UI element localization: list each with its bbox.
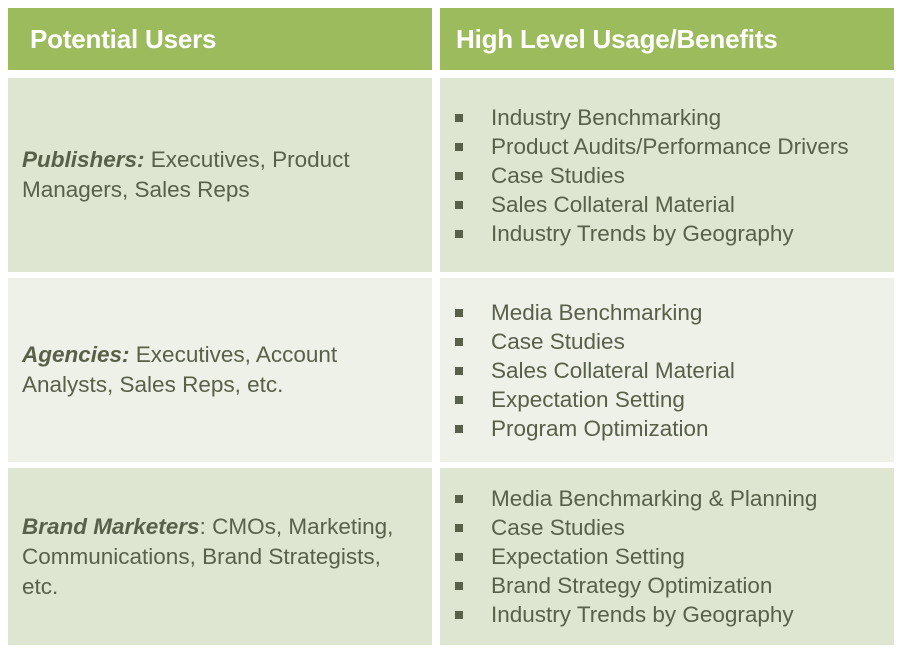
benefit-label: Media Benchmarking: [491, 298, 884, 327]
benefit-label: Industry Benchmarking: [491, 103, 884, 132]
square-bullet-icon: [455, 201, 463, 209]
list-item: Sales Collateral Material: [448, 190, 884, 219]
persona-lead-agencies: Agencies:: [22, 342, 130, 367]
square-bullet-icon: [455, 367, 463, 375]
list-item: Industry Trends by Geography: [448, 600, 884, 629]
square-bullet-icon: [455, 425, 463, 433]
square-bullet-icon: [455, 495, 463, 503]
table-row: Publishers: Executives, Product Managers…: [8, 78, 894, 272]
list-item: Industry Benchmarking: [448, 103, 884, 132]
persona-description: Brand Marketers: CMOs, Marketing, Commun…: [22, 512, 416, 602]
row-column-divider: [432, 278, 440, 462]
persona-description: Publishers: Executives, Product Managers…: [22, 145, 416, 205]
list-item: Media Benchmarking & Planning: [448, 484, 884, 513]
row-column-divider: [432, 78, 440, 272]
benefit-label: Product Audits/Performance Drivers: [491, 132, 884, 161]
benefits-list: Industry Benchmarking Product Audits/Per…: [448, 103, 884, 248]
list-item: Case Studies: [448, 327, 884, 356]
square-bullet-icon: [455, 230, 463, 238]
column-header-high-level-usage-benefits: High Level Usage/Benefits: [440, 8, 894, 70]
list-item: Sales Collateral Material: [448, 356, 884, 385]
column-header-potential-users: Potential Users: [8, 8, 432, 70]
benefit-label: Expectation Setting: [491, 542, 884, 571]
square-bullet-icon: [455, 582, 463, 590]
square-bullet-icon: [455, 611, 463, 619]
benefit-label: Program Optimization: [491, 414, 884, 443]
potential-users-benefits-table: Potential Users High Level Usage/Benefit…: [8, 8, 894, 645]
header-column-divider: [432, 8, 440, 70]
square-bullet-icon: [455, 114, 463, 122]
benefit-label: Industry Trends by Geography: [491, 219, 884, 248]
list-item: Case Studies: [448, 161, 884, 190]
square-bullet-icon: [455, 524, 463, 532]
persona-description: Agencies: Executives, Account Analysts, …: [22, 340, 416, 400]
square-bullet-icon: [455, 143, 463, 151]
benefits-list: Media Benchmarking Case Studies Sales Co…: [448, 298, 884, 443]
persona-lead-brand-marketers: Brand Marketers: [22, 514, 200, 539]
benefit-label: Industry Trends by Geography: [491, 600, 884, 629]
cell-benefits: Media Benchmarking Case Studies Sales Co…: [440, 278, 894, 462]
square-bullet-icon: [455, 396, 463, 404]
list-item: Expectation Setting: [448, 542, 884, 571]
persona-lead-publishers: Publishers:: [22, 147, 145, 172]
cell-potential-users: Brand Marketers: CMOs, Marketing, Commun…: [8, 468, 432, 645]
row-column-divider: [432, 468, 440, 645]
benefit-label: Sales Collateral Material: [491, 190, 884, 219]
benefit-label: Case Studies: [491, 161, 884, 190]
table-row: Agencies: Executives, Account Analysts, …: [8, 278, 894, 462]
square-bullet-icon: [455, 338, 463, 346]
benefit-label: Sales Collateral Material: [491, 356, 884, 385]
cell-benefits: Industry Benchmarking Product Audits/Per…: [440, 78, 894, 272]
table-row: Brand Marketers: CMOs, Marketing, Commun…: [8, 468, 894, 645]
benefit-label: Case Studies: [491, 513, 884, 542]
benefit-label: Media Benchmarking & Planning: [491, 484, 884, 513]
table-header-row: Potential Users High Level Usage/Benefit…: [8, 8, 894, 70]
cell-potential-users: Publishers: Executives, Product Managers…: [8, 78, 432, 272]
list-item: Program Optimization: [448, 414, 884, 443]
list-item: Brand Strategy Optimization: [448, 571, 884, 600]
cell-benefits: Media Benchmarking & Planning Case Studi…: [440, 468, 894, 645]
benefit-label: Expectation Setting: [491, 385, 884, 414]
list-item: Expectation Setting: [448, 385, 884, 414]
table-container: Potential Users High Level Usage/Benefit…: [0, 0, 902, 652]
list-item: Case Studies: [448, 513, 884, 542]
list-item: Product Audits/Performance Drivers: [448, 132, 884, 161]
square-bullet-icon: [455, 553, 463, 561]
list-item: Industry Trends by Geography: [448, 219, 884, 248]
benefit-label: Case Studies: [491, 327, 884, 356]
list-item: Media Benchmarking: [448, 298, 884, 327]
benefits-list: Media Benchmarking & Planning Case Studi…: [448, 484, 884, 629]
cell-potential-users: Agencies: Executives, Account Analysts, …: [8, 278, 432, 462]
square-bullet-icon: [455, 172, 463, 180]
benefit-label: Brand Strategy Optimization: [491, 571, 884, 600]
square-bullet-icon: [455, 309, 463, 317]
